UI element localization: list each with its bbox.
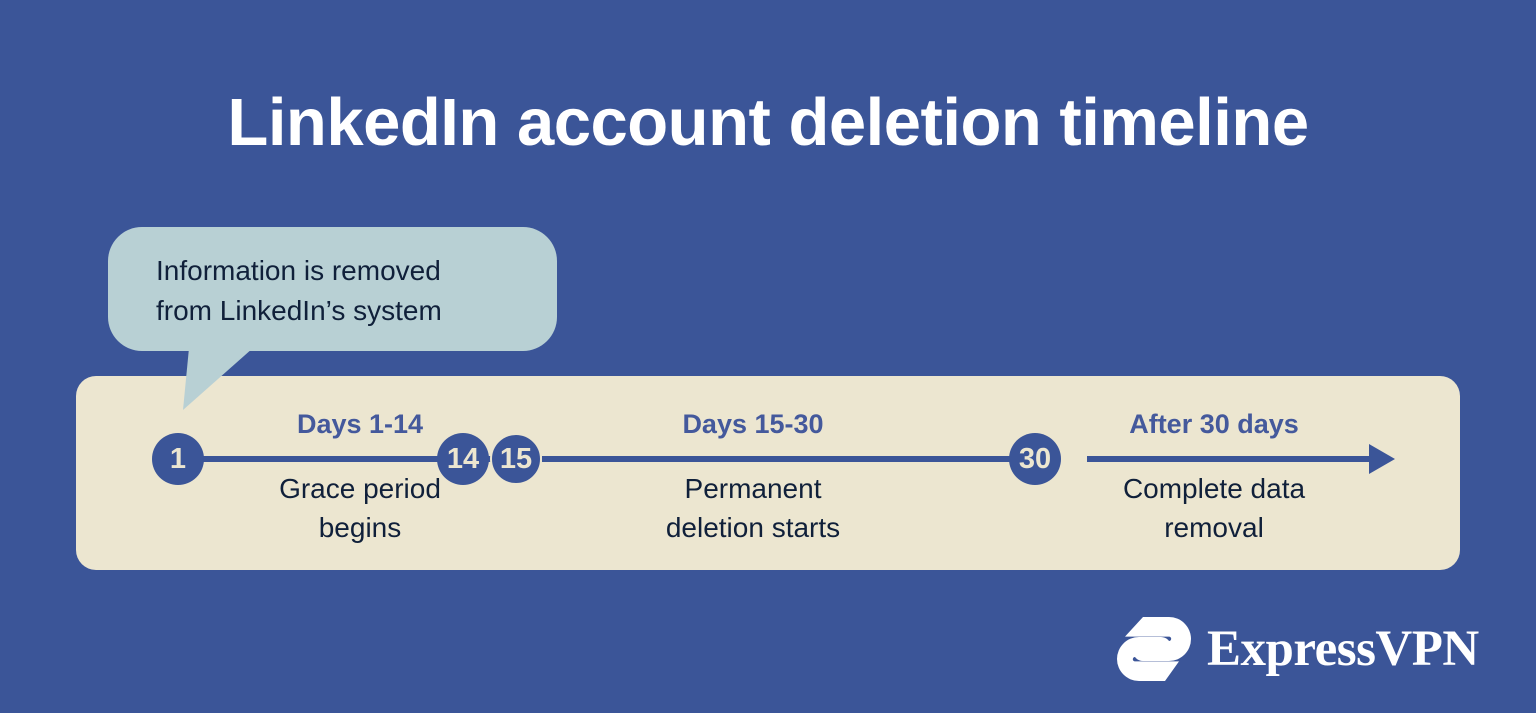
segment-1-desc-line-2: begins xyxy=(180,509,540,548)
segment-3-range-label: After 30 days xyxy=(1054,409,1374,440)
expressvpn-logo: ExpressVPN xyxy=(1113,613,1479,685)
axis-segment-3 xyxy=(1087,456,1386,462)
segment-2-desc-line-2: deletion starts xyxy=(573,509,933,548)
callout-text: Information is removed from LinkedIn’s s… xyxy=(156,251,536,331)
segment-2-range-label: Days 15-30 xyxy=(593,409,913,440)
segment-2-desc-line-1: Permanent xyxy=(573,470,933,509)
expressvpn-mark-icon xyxy=(1113,615,1191,683)
expressvpn-wordmark: ExpressVPN xyxy=(1207,624,1479,675)
timeline: 1 14 15 30 Days 1-14 Grace period begins… xyxy=(76,376,1460,570)
segment-3-desc-line-1: Complete data xyxy=(1034,470,1394,509)
segment-1-description: Grace period begins xyxy=(180,470,540,547)
page-title: LinkedIn account deletion timeline xyxy=(0,88,1536,158)
segment-2-description: Permanent deletion starts xyxy=(573,470,933,547)
segment-3-desc-line-2: removal xyxy=(1034,509,1394,548)
callout-line-1: Information is removed xyxy=(156,251,536,291)
infographic-canvas: LinkedIn account deletion timeline Infor… xyxy=(0,0,1536,713)
segment-3-description: Complete data removal xyxy=(1034,470,1394,547)
callout-tail-icon xyxy=(183,348,253,414)
callout-line-2: from LinkedIn’s system xyxy=(156,291,536,331)
axis-segment-2 xyxy=(542,456,1036,462)
callout-bubble: Information is removed from LinkedIn’s s… xyxy=(108,227,557,351)
segment-1-desc-line-1: Grace period xyxy=(180,470,540,509)
